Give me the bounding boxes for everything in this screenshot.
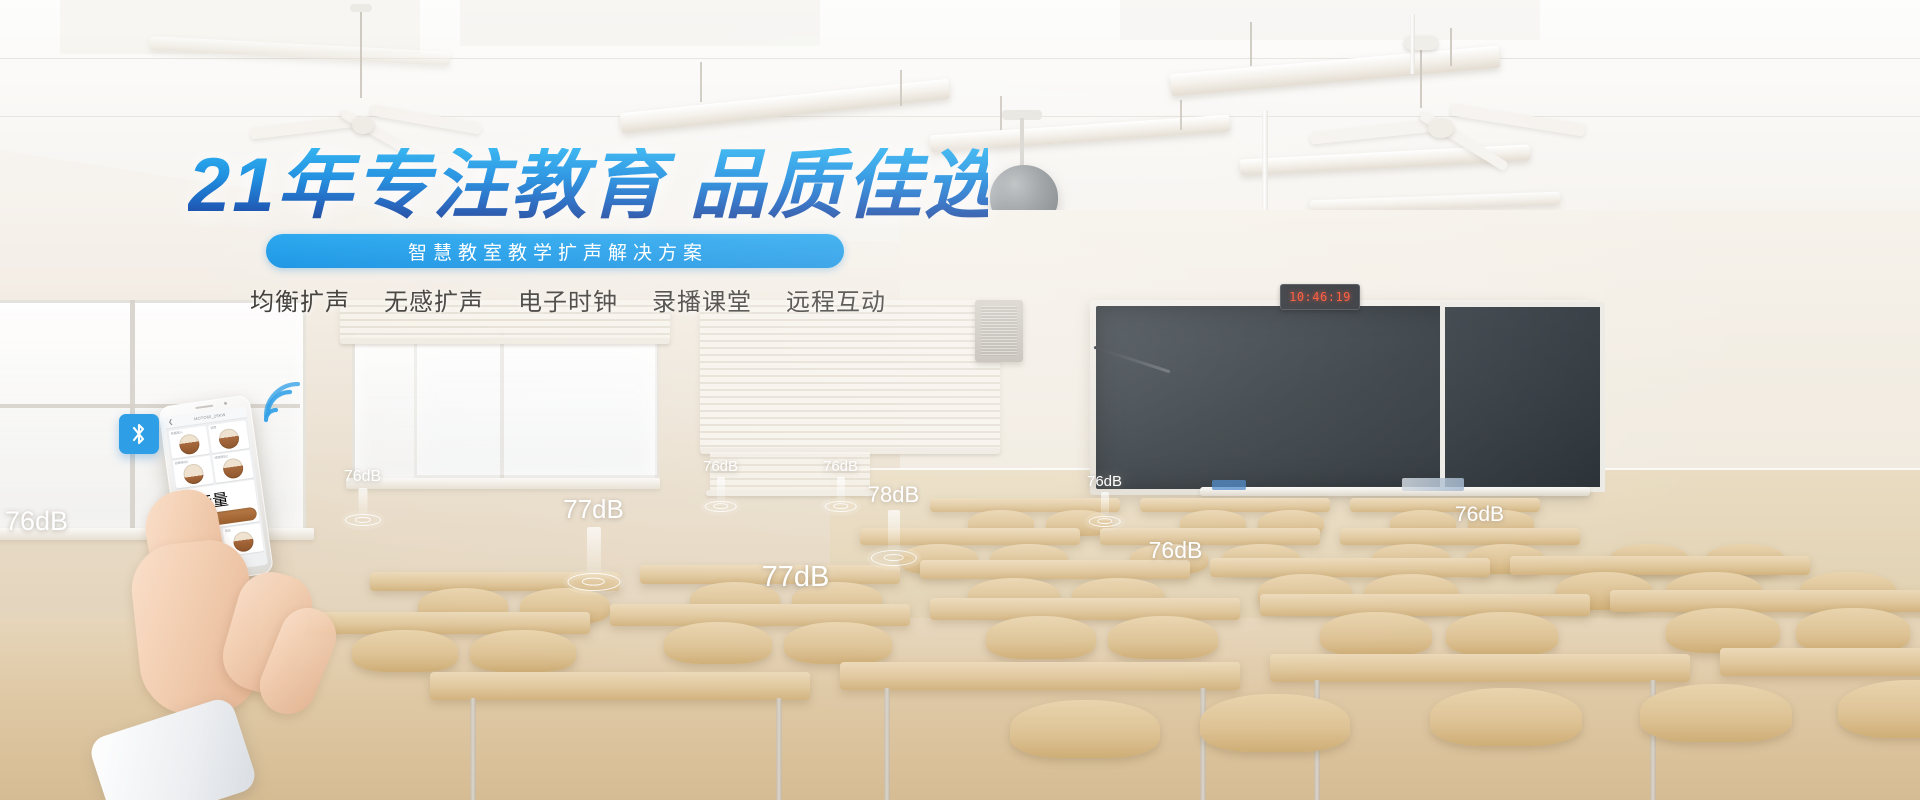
desk	[1720, 648, 1920, 676]
volume-knob[interactable]	[222, 457, 245, 480]
app-control-card[interactable]: 线路输出1	[173, 455, 215, 488]
app-card-label: 线路输出1	[175, 461, 189, 466]
chevron-left-icon[interactable]: ❮	[168, 419, 174, 426]
window-blind-bar	[706, 490, 874, 496]
app-card-label: 线路输入	[171, 431, 183, 436]
db-value-label: 76dB	[1149, 537, 1203, 564]
db-value-label: 76dB	[823, 458, 858, 475]
feature-keyword: 均衡扩声	[250, 282, 350, 317]
hero-banner: 10:46:19	[0, 0, 1920, 800]
desk	[930, 598, 1240, 620]
db-value-label: 76dB	[5, 506, 68, 537]
desk	[840, 662, 1240, 690]
chair	[1320, 612, 1432, 656]
desk-leg	[470, 698, 476, 800]
chair	[1796, 608, 1910, 653]
app-card-label: 话筒	[210, 426, 216, 430]
db-beam	[587, 527, 601, 573]
db-beam	[837, 477, 845, 501]
chair	[470, 630, 576, 672]
db-ripple	[704, 501, 737, 512]
app-card-label: 线路输出2	[214, 455, 228, 460]
window-blind	[700, 300, 1000, 450]
pendant-rod	[700, 62, 702, 102]
drop-pole	[1410, 14, 1415, 74]
board-label	[1402, 478, 1464, 491]
chair	[1108, 616, 1218, 659]
phone-earpiece	[195, 405, 213, 409]
db-ripple	[824, 501, 857, 512]
pendant-rod	[1180, 100, 1182, 130]
hand	[118, 488, 418, 800]
desk	[610, 604, 910, 626]
feature-keyword-row: 均衡扩声无感扩声电子时钟录播课堂远程互动	[250, 282, 988, 317]
desk-leg	[776, 698, 782, 800]
db-value-label: 77dB	[762, 561, 830, 594]
chair	[1430, 688, 1582, 746]
pendant-rod	[1450, 28, 1452, 66]
db-value-label: 76dB	[1455, 503, 1504, 527]
fan-mount	[350, 4, 372, 12]
chair	[784, 622, 892, 664]
desk	[1260, 594, 1590, 616]
db-value-label: 76dB	[1087, 473, 1122, 490]
chair	[1010, 700, 1160, 758]
app-control-card[interactable]: 线路输入	[168, 426, 210, 459]
volume-knob[interactable]	[182, 463, 205, 486]
desk	[1340, 528, 1580, 545]
ceiling-panel	[460, 0, 820, 46]
pendant-rod	[900, 70, 902, 106]
volume-knob[interactable]	[218, 427, 241, 450]
chair	[664, 622, 772, 664]
subtitle-pill: 智慧教室教学扩声解决方案	[266, 234, 844, 268]
phone-in-hand: ❮ MOTO60_25KW 线路输入话筒线路输出1线路输出2总音量高音低音	[118, 392, 418, 800]
electronic-clock-display: 10:46:19	[1280, 284, 1360, 310]
desk	[1510, 556, 1810, 575]
db-value-label: 77dB	[563, 494, 624, 525]
headline-block: 21年专注教育 品质佳选 智慧教室教学扩声解决方案 均衡扩声无感扩声电子时钟录播…	[188, 148, 988, 317]
chair	[1200, 694, 1350, 752]
db-ripple	[1088, 516, 1121, 527]
wireless-signal-icon	[260, 382, 304, 426]
db-beam	[717, 477, 725, 501]
window-blind-bar	[340, 338, 670, 344]
desk	[430, 672, 810, 700]
bluetooth-icon	[119, 414, 159, 454]
feature-keyword: 无感扩声	[384, 282, 484, 317]
db-beam	[1101, 492, 1109, 516]
desk	[1210, 558, 1490, 577]
chair	[1666, 608, 1780, 653]
desk-leg	[1200, 688, 1206, 800]
chalk-tray	[1200, 487, 1590, 496]
phone-camera	[224, 402, 227, 405]
window	[414, 336, 660, 478]
feature-keyword: 录播课堂	[652, 282, 752, 317]
fan-rod	[1420, 46, 1422, 108]
fan-rod	[360, 8, 362, 98]
subtitle-text: 智慧教室教学扩声解决方案	[402, 238, 708, 265]
app-control-card[interactable]: 话筒	[208, 420, 250, 453]
chair	[1446, 612, 1558, 656]
db-value-label: 76dB	[703, 458, 738, 475]
ceiling-fan	[1310, 96, 1610, 166]
board-label	[1212, 480, 1246, 490]
clock-time: 10:46:19	[1289, 290, 1351, 304]
feature-keyword: 电子时钟	[518, 282, 618, 317]
speaker-rod	[1020, 118, 1024, 170]
db-ripple	[567, 573, 620, 591]
desk	[1100, 528, 1320, 545]
interactive-panel	[1440, 302, 1605, 492]
db-value-label: 78dB	[868, 482, 919, 508]
page-title: 21年专注教育 品质佳选	[188, 148, 988, 224]
chair	[1640, 684, 1792, 742]
desk-leg	[884, 688, 890, 800]
ceiling-seam	[0, 58, 1920, 59]
pendant-rod	[1250, 22, 1252, 66]
chair	[986, 616, 1096, 659]
db-beam	[888, 510, 900, 550]
app-control-card[interactable]: 线路输出2	[212, 450, 254, 483]
db-ripple	[870, 550, 916, 566]
ceiling-panel	[1120, 0, 1540, 40]
desk	[1270, 654, 1690, 682]
volume-knob[interactable]	[178, 433, 201, 456]
feature-keyword: 远程互动	[786, 282, 886, 317]
